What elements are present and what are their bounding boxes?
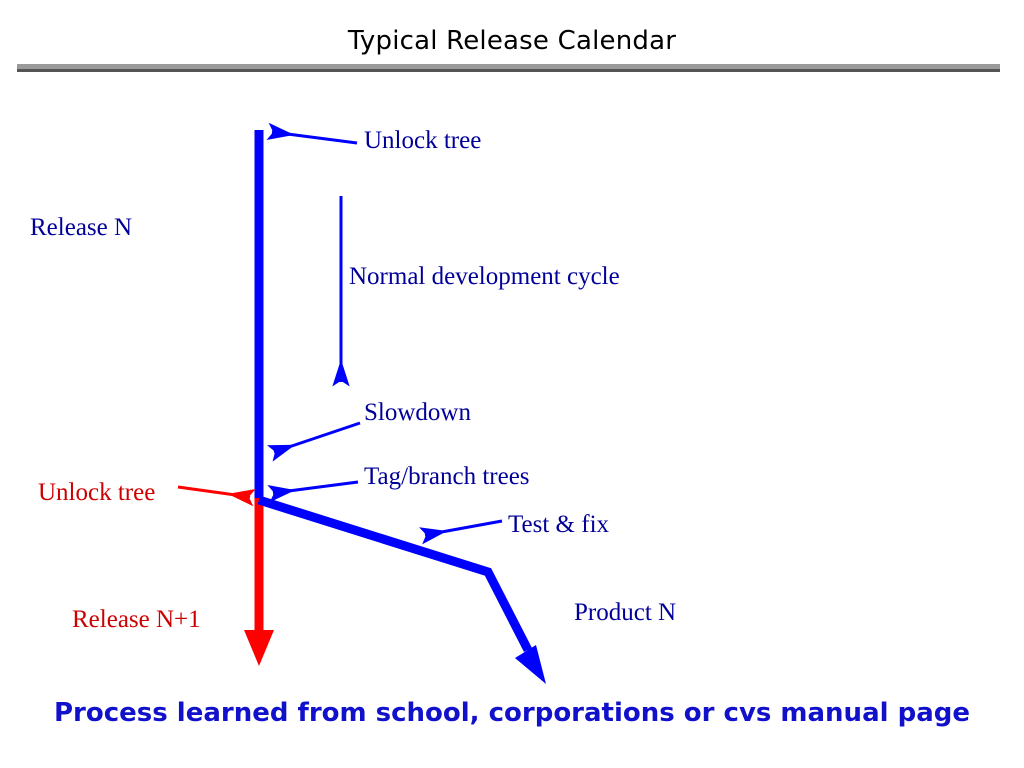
product-n-branch-arrowhead bbox=[515, 645, 546, 684]
label-release-n-plus-1: Release N+1 bbox=[72, 607, 201, 632]
tag-branch-arrow bbox=[273, 482, 358, 493]
label-unlock-tree-top: Unlock tree bbox=[364, 128, 481, 153]
label-normal-development-cycle: Normal development cycle bbox=[349, 264, 620, 289]
unlock-tree-top-arrow bbox=[272, 132, 357, 143]
footer-caption: Process learned from school, corporation… bbox=[0, 698, 1024, 728]
unlock-tree-left-arrow bbox=[178, 487, 250, 497]
test-and-fix-arrow bbox=[425, 521, 502, 535]
slowdown-arrow bbox=[274, 423, 360, 452]
label-slowdown: Slowdown bbox=[364, 400, 471, 425]
label-release-n: Release N bbox=[30, 215, 132, 240]
label-unlock-tree-left: Unlock tree bbox=[38, 480, 155, 505]
release-n-plus-1-arrowhead bbox=[244, 630, 274, 666]
label-test-and-fix: Test & fix bbox=[508, 512, 609, 537]
label-product-n: Product N bbox=[574, 600, 676, 625]
label-tag-branch-trees: Tag/branch trees bbox=[364, 464, 530, 489]
release-calendar-diagram bbox=[0, 0, 1024, 768]
